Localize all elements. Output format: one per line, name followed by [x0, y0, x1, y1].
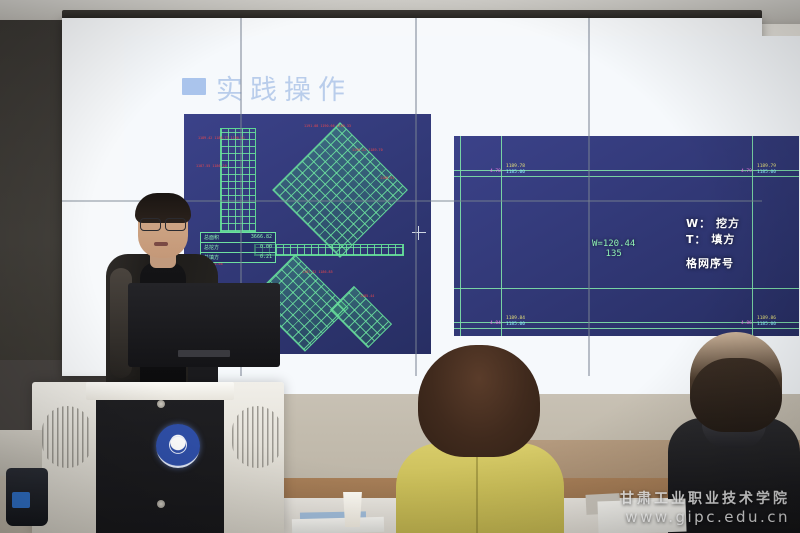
- cad-annotation-text: 1190.22 1189.70: [352, 148, 383, 152]
- cad-annotation-text: 1191.08 1190.66 1189.33: [304, 124, 351, 128]
- university-emblem-icon: [156, 424, 200, 468]
- cad-gridline-h: [454, 288, 799, 289]
- cad-corner-bottom-value: 1185.00: [757, 170, 776, 176]
- audience-coat-seam: [476, 449, 478, 533]
- cad-corner-bottom-value: 1185.00: [506, 170, 525, 176]
- cad-gridline-v: [460, 136, 461, 336]
- cad-gridline-h: [454, 328, 799, 329]
- audience-hair: [418, 345, 540, 457]
- cad-corner-top-value: 1189.78: [506, 164, 525, 170]
- audience-member-yellow-coat: [396, 345, 564, 533]
- cad-annotation-text: 1187.55 1186.20: [196, 164, 227, 168]
- video-wall-seam: [588, 18, 590, 376]
- audience-hair: [690, 358, 782, 432]
- cad-table-value: 0.21: [260, 254, 272, 261]
- cad-mesh-column: [220, 128, 256, 232]
- cad-corner-delta: 4.79: [741, 169, 752, 175]
- lectern-speaker-grille-left: [42, 406, 92, 468]
- document-stack: [292, 517, 384, 533]
- cad-corner-delta: 4.78: [490, 169, 501, 175]
- cad-mesh-strip: [254, 244, 404, 256]
- audience-member-dark-jacket: [668, 332, 800, 533]
- cad-corner-top-value: 1189.84: [506, 316, 525, 322]
- cad-legend-item: 格网序号: [686, 256, 740, 272]
- lecture-hall-photo: 实践操作 1189.42 1188.73 1190.01 1187.55 118…: [0, 0, 800, 533]
- cad-corner-label: 1189.78 1185.00 4.78: [506, 164, 525, 175]
- slide-bullet-icon: [182, 78, 206, 95]
- cad-annotation-text: 1185.44: [360, 294, 374, 298]
- presenter-mouth: [154, 242, 168, 246]
- cad-cell-volume-note: W=120.44 135: [592, 239, 635, 260]
- cad-gridline-v: [752, 136, 753, 336]
- cad-corner-delta: 4.86: [741, 321, 752, 327]
- cad-cell-volume-value: W=120.44: [592, 239, 635, 249]
- cad-corner-top-value: 1189.79: [757, 164, 776, 170]
- cad-gridline-h: [454, 176, 799, 177]
- cad-table-value: 0.00: [260, 244, 272, 251]
- video-wall-seam: [415, 18, 417, 376]
- cad-legend-item: T： 填方: [686, 232, 740, 248]
- cad-panel-grid-detail: 1189.78 1185.00 4.78 1189.79 1185.00 4.7…: [454, 136, 799, 336]
- lectern-knob[interactable]: [157, 500, 165, 508]
- cad-cell-index-value: 135: [606, 249, 622, 259]
- cad-corner-label: 1189.86 1185.00 4.86: [757, 316, 776, 327]
- lectern-top-lip: [86, 382, 234, 400]
- cad-mesh-diamond: [272, 122, 408, 258]
- cad-corner-bottom-value: 1185.00: [506, 322, 525, 328]
- monitor-stand: [188, 367, 218, 383]
- lectern-speaker-grille-right: [232, 406, 282, 468]
- cad-legend: W： 挖方 T： 填方 格网序号: [686, 216, 740, 272]
- document-stack: [597, 498, 686, 533]
- cad-table-value: 3666.82: [251, 234, 272, 241]
- cad-annotation-text: 1187.32 1186.85: [302, 270, 333, 274]
- cad-corner-label: 1189.79 1185.00 4.79: [757, 164, 776, 175]
- presenter-glasses: [139, 218, 187, 229]
- cad-corner-label: 1189.84 1185.00 4.84: [506, 316, 525, 327]
- cad-gridline-v: [501, 136, 502, 336]
- cad-legend-item: W： 挖方: [686, 216, 740, 232]
- lectern-front-panel: [96, 398, 224, 533]
- slide-title: 实践操作: [216, 68, 352, 107]
- cad-annotation-text: 1188.91: [380, 176, 394, 180]
- cad-annotation-text: 1189.42 1188.73 1190.01: [198, 136, 245, 140]
- kettle-label: [12, 492, 30, 508]
- cad-corner-bottom-value: 1185.00: [757, 322, 776, 328]
- cad-corner-top-value: 1189.86: [757, 316, 776, 322]
- lectern-knob[interactable]: [157, 400, 165, 408]
- cad-corner-delta: 4.84: [490, 321, 501, 327]
- monitor-control-strip[interactable]: [178, 350, 230, 357]
